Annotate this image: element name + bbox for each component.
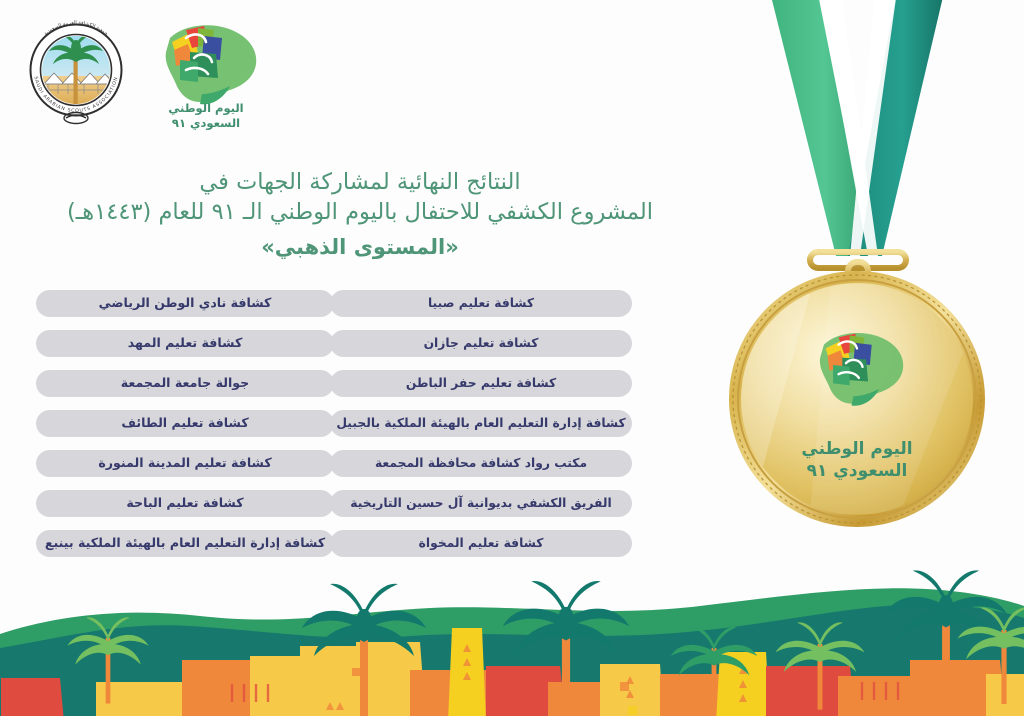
- medal-text-line1: اليوم الوطني: [801, 439, 912, 459]
- title-level-label: «المستوى الذهبي»: [40, 234, 680, 262]
- nd-logo-subtitle-line2: السعودي ٩١: [172, 116, 240, 131]
- result-pill[interactable]: كشافة إدارة التعليم العام بالهيئة الملكي…: [330, 410, 632, 437]
- result-pill[interactable]: كشافة تعليم حفر الباطن: [330, 370, 632, 397]
- result-pill-label: كشافة تعليم الطائف: [121, 417, 248, 430]
- title-line-1: النتائج النهائية لمشاركة الجهات في: [40, 168, 680, 198]
- result-pill-label: كشافة نادي الوطن الرياضي: [99, 297, 272, 310]
- header-logos: SAUDI ARABIAN SCOUTS ASSOCIATION جمعية ا…: [0, 0, 300, 145]
- result-pill[interactable]: كشافة تعليم المدينة المنورة: [36, 450, 334, 477]
- poster-title: النتائج النهائية لمشاركة الجهات في المشر…: [40, 168, 680, 262]
- result-pill[interactable]: كشافة تعليم الطائف: [36, 410, 334, 437]
- medal-text-line2: السعودي ٩١: [807, 461, 908, 481]
- result-pill[interactable]: كشافة تعليم جازان: [330, 330, 632, 357]
- result-pill[interactable]: كشافة إدارة التعليم العام بالهيئة الملكي…: [36, 530, 334, 557]
- result-pill-label: كشافة إدارة التعليم العام بالهيئة الملكي…: [45, 537, 325, 550]
- result-pill-label: كشافة تعليم الباحة: [126, 497, 243, 510]
- national-day-logo-icon: اليوم الوطني السعودي ٩١: [142, 8, 270, 136]
- result-pill-label: كشافة تعليم حفر الباطن: [406, 377, 556, 389]
- result-pill[interactable]: الفريق الكشفي بديوانية آل حسين التاريخية: [330, 490, 632, 517]
- results-column-left: كشافة تعليم صبياكشافة تعليم جازانكشافة ت…: [330, 290, 632, 570]
- gold-medal-graphic: اليوم الوطني السعودي ٩١: [690, 0, 1024, 564]
- result-pill-label: كشافة تعليم جازان: [424, 337, 539, 349]
- title-line-2: المشروع الكشفي للاحتفال باليوم الوطني ال…: [40, 198, 680, 228]
- result-pill-label: كشافة تعليم صبيا: [428, 297, 534, 309]
- result-pill-label: كشافة تعليم المهد: [128, 337, 243, 350]
- result-pill-label: مكتب رواد كشافة محافظة المجمعة: [375, 457, 587, 469]
- nd-logo-subtitle-line1: اليوم الوطني: [168, 101, 243, 116]
- result-pill-label: كشافة إدارة التعليم العام بالهيئة الملكي…: [336, 417, 625, 429]
- scouts-emblem-icon: SAUDI ARABIAN SCOUTS ASSOCIATION جمعية ا…: [22, 18, 130, 130]
- result-pill[interactable]: كشافة تعليم صبيا: [330, 290, 632, 317]
- result-pill[interactable]: كشافة نادي الوطن الرياضي: [36, 290, 334, 317]
- result-pill[interactable]: كشافة تعليم المخواة: [330, 530, 632, 557]
- result-pill[interactable]: مكتب رواد كشافة محافظة المجمعة: [330, 450, 632, 477]
- result-pill-label: كشافة تعليم المخواة: [419, 537, 544, 549]
- results-lists: كشافة نادي الوطن الرياضيكشافة تعليم المه…: [0, 290, 690, 565]
- result-pill[interactable]: كشافة تعليم المهد: [36, 330, 334, 357]
- result-pill[interactable]: جوالة جامعة المجمعة: [36, 370, 334, 397]
- result-pill[interactable]: كشافة تعليم الباحة: [36, 490, 334, 517]
- footer-illustration: [0, 556, 1024, 716]
- result-pill-label: كشافة تعليم المدينة المنورة: [98, 457, 271, 470]
- result-pill-label: جوالة جامعة المجمعة: [121, 377, 250, 390]
- results-column-right: كشافة نادي الوطن الرياضيكشافة تعليم المه…: [36, 290, 334, 570]
- result-pill-label: الفريق الكشفي بديوانية آل حسين التاريخية: [350, 497, 611, 509]
- poster-canvas: SAUDI ARABIAN SCOUTS ASSOCIATION جمعية ا…: [0, 0, 1024, 716]
